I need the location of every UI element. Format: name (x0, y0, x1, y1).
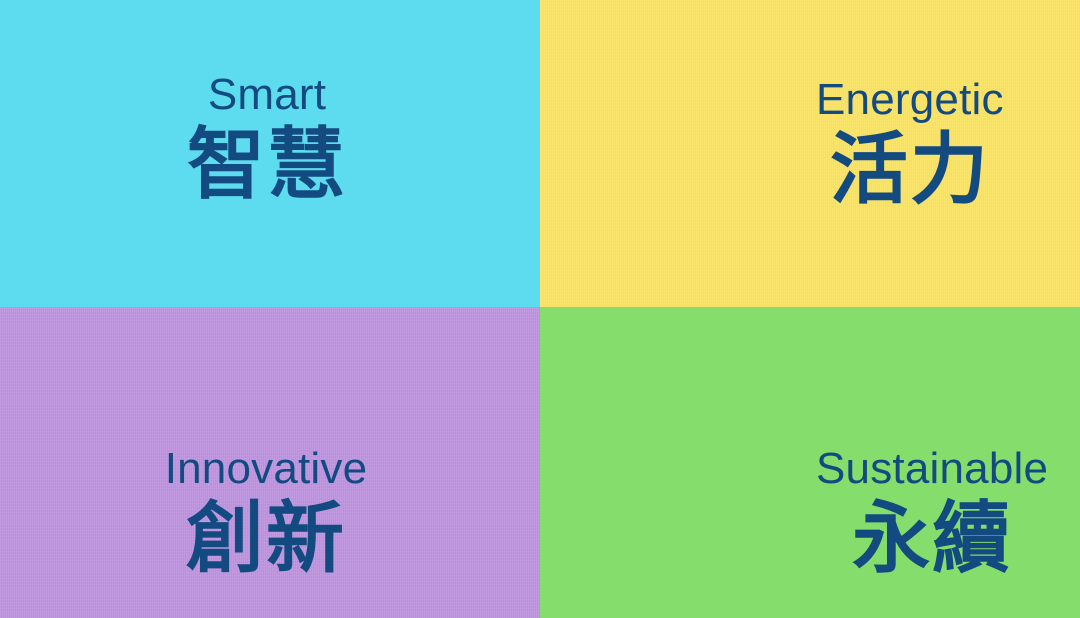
panel-smart-label-cjk: 智慧 (187, 124, 347, 206)
panel-smart-label-en: Smart (208, 73, 326, 118)
panel-innovative[interactable]: Innovative 創新 (0, 307, 540, 618)
panel-innovative-label-cjk: 創新 (186, 498, 346, 580)
panel-smart-content: Smart 智慧 (187, 73, 347, 206)
panel-sustainable-content: Sustainable 永續 (816, 447, 1048, 580)
panel-sustainable-label-en: Sustainable (816, 447, 1048, 492)
panel-energetic-label-cjk: 活力 (830, 129, 990, 211)
panel-sustainable-label-cjk: 永續 (852, 498, 1012, 580)
panel-energetic[interactable]: Energetic 活力 (540, 0, 1080, 307)
panel-energetic-content: Energetic 活力 (816, 78, 1004, 211)
brand-value-quadrant-board: Smart 智慧 Energetic 活力 Innovative 創新 Sust… (0, 0, 1080, 618)
panel-energetic-label-en: Energetic (816, 78, 1004, 123)
panel-innovative-content: Innovative 創新 (165, 447, 368, 580)
panel-innovative-label-en: Innovative (165, 447, 368, 492)
panel-smart[interactable]: Smart 智慧 (0, 0, 540, 307)
panel-sustainable[interactable]: Sustainable 永續 (540, 307, 1080, 618)
